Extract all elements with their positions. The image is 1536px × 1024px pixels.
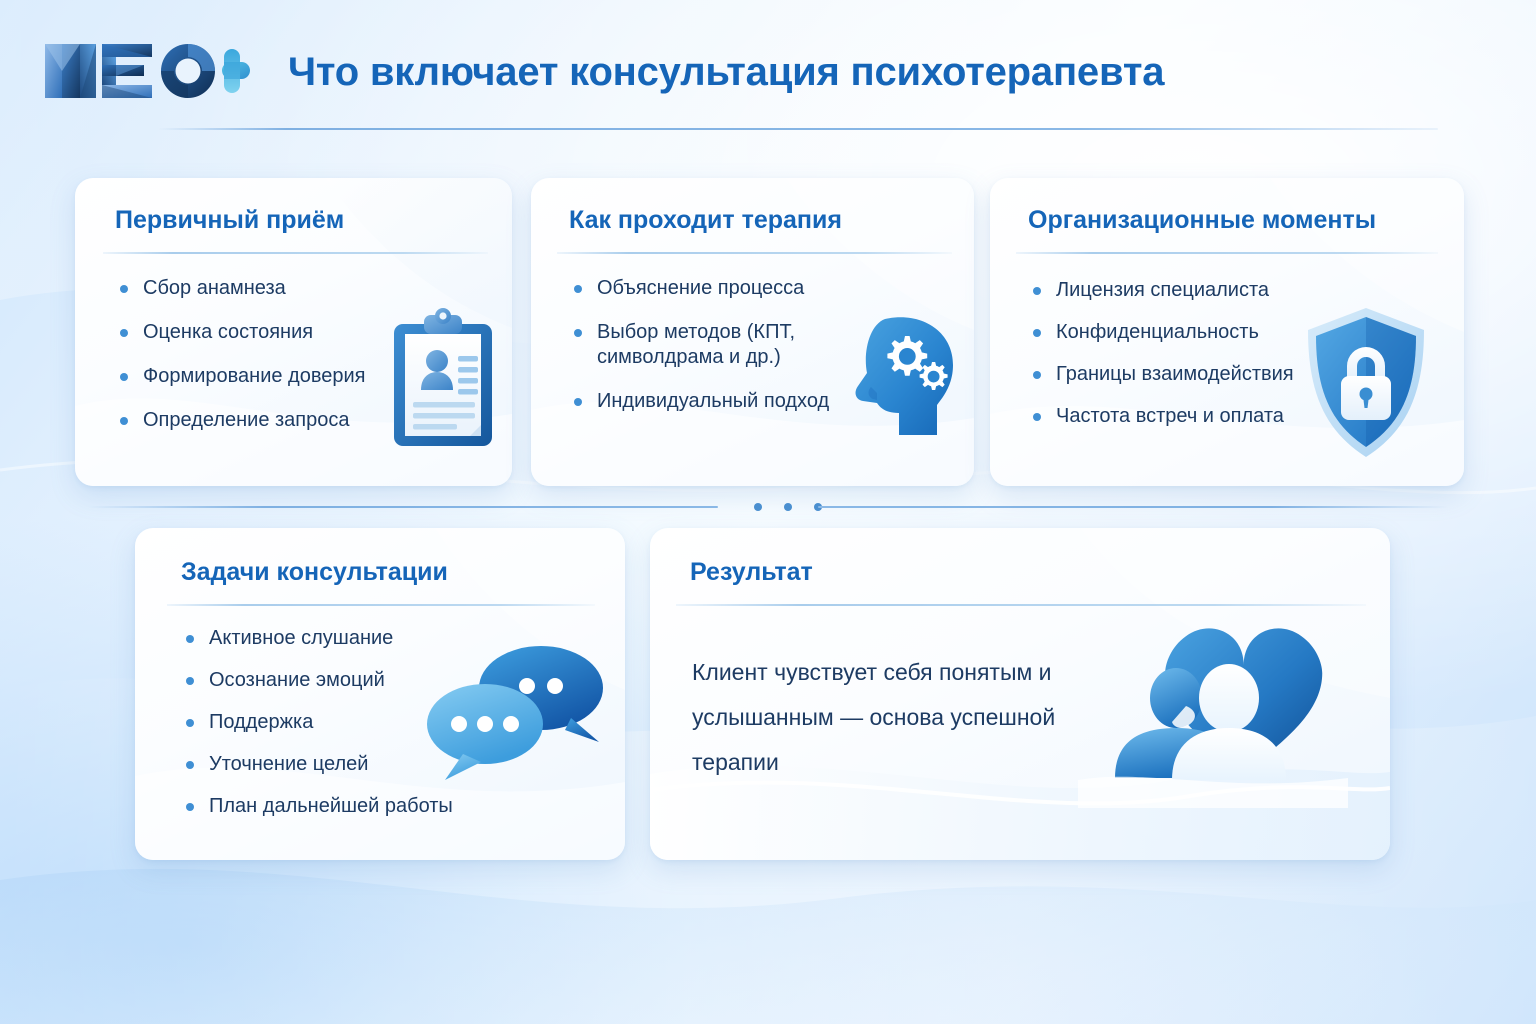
card-result[interactable]: Результат Клиент чувствует себя понятым … bbox=[650, 528, 1390, 860]
card-heading: Как проходит терапия bbox=[569, 206, 842, 235]
header: Что включает консультация психотерапевта bbox=[40, 36, 1440, 134]
bullet-list: Лицензия специалиста Конфиденциальность … bbox=[1030, 278, 1330, 429]
bullet-list: Объяснение процесса Выбор методов (КПТ, … bbox=[571, 276, 836, 414]
list-item: Сбор анамнеза bbox=[117, 276, 417, 301]
card-consultation-tasks[interactable]: Задачи консультации Активное слушание Ос… bbox=[135, 528, 625, 860]
card-heading-divider bbox=[557, 252, 952, 254]
heart-couple-icon bbox=[1078, 618, 1348, 808]
list-item: Индивидуальный подход bbox=[571, 389, 836, 414]
divider-dot bbox=[754, 503, 762, 511]
list-item: Формирование доверия bbox=[117, 364, 417, 389]
list-item: План дальнейшей работы bbox=[183, 794, 483, 819]
card-heading-divider bbox=[167, 604, 595, 606]
head-gears-icon bbox=[841, 313, 961, 441]
list-item: Оценка состояния bbox=[117, 320, 417, 345]
divider-line-right bbox=[818, 506, 1448, 508]
list-item: Конфиденциальность bbox=[1030, 320, 1330, 345]
bullet-list: Сбор анамнеза Оценка состояния Формирова… bbox=[117, 276, 417, 433]
divider-dot bbox=[784, 503, 792, 511]
card-heading: Первичный приём bbox=[115, 206, 344, 235]
clipboard-person-icon bbox=[388, 306, 498, 451]
list-item: Объяснение процесса bbox=[571, 276, 836, 301]
neo-plus-logo-icon bbox=[40, 38, 252, 104]
divider-line-left bbox=[88, 506, 718, 508]
card-heading: Задачи консультации bbox=[181, 558, 448, 587]
list-item: Выбор методов (КПТ, символдрама и др.) bbox=[571, 320, 836, 370]
shield-lock-icon bbox=[1301, 304, 1431, 464]
card-heading-divider bbox=[1016, 252, 1438, 254]
header-divider bbox=[158, 128, 1438, 130]
list-item: Определение запроса bbox=[117, 408, 417, 433]
card-heading: Организационные моменты bbox=[1028, 206, 1376, 235]
card-heading-divider bbox=[103, 252, 488, 254]
list-item: Лицензия специалиста bbox=[1030, 278, 1330, 303]
infographic-root: Что включает консультация психотерапевта… bbox=[0, 0, 1536, 1024]
card-organizational[interactable]: Организационные моменты Лицензия специал… bbox=[990, 178, 1464, 486]
speech-bubbles-icon bbox=[423, 638, 608, 788]
list-item: Границы взаимодействия bbox=[1030, 362, 1330, 387]
result-paragraph: Клиент чувствует себя понятым и услышанн… bbox=[692, 650, 1112, 785]
card-heading-divider bbox=[676, 604, 1366, 606]
section-divider bbox=[88, 500, 1448, 514]
card-how-therapy-goes[interactable]: Как проходит терапия Объяснение процесса… bbox=[531, 178, 974, 486]
card-heading: Результат bbox=[690, 558, 813, 587]
page-title: Что включает консультация психотерапевта bbox=[288, 50, 1164, 95]
card-primary-intake[interactable]: Первичный приём Сбор анамнеза Оценка сос… bbox=[75, 178, 512, 486]
list-item: Частота встреч и оплата bbox=[1030, 404, 1330, 429]
